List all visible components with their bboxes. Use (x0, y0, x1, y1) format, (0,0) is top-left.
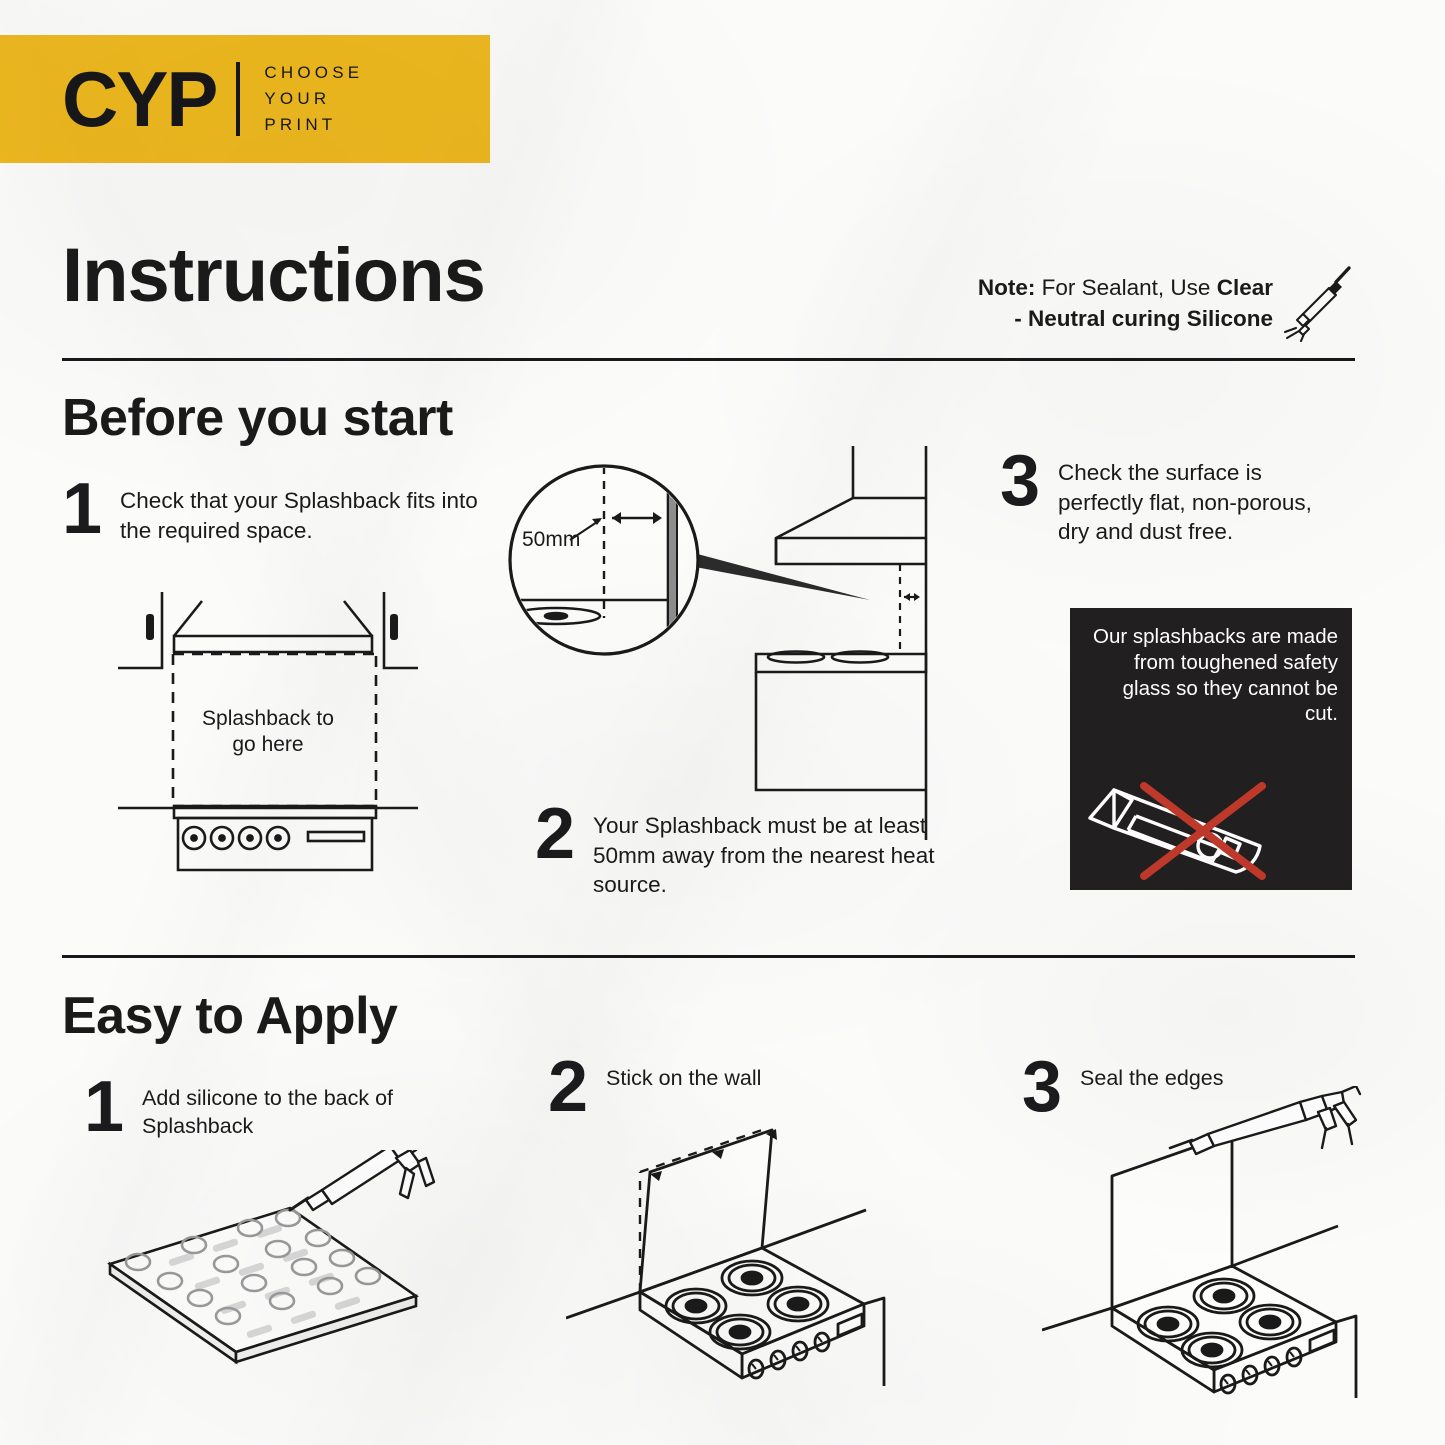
caulk-gun-icon (1170, 1086, 1360, 1154)
step-before-1: 1 Check that your Splashback fits into t… (62, 480, 482, 545)
brand-mark: CYP (62, 60, 216, 138)
step-number: 1 (84, 1078, 124, 1137)
tagline-line-1: CHOOSE (264, 60, 363, 86)
figure-fit-label-line-2: go here (232, 733, 303, 756)
caulk-gun-icon (290, 1150, 438, 1210)
step-number: 1 (62, 480, 102, 539)
step-number: 3 (1000, 452, 1040, 511)
step-before-3: 3 Check the surface is perfectly flat, n… (1000, 452, 1330, 547)
note-label: Note: (978, 275, 1036, 300)
figure-clearance-callout: 50mm (522, 528, 580, 551)
warning-box-cannot-be-cut: Our splashbacks are made from toughened … (1070, 608, 1352, 890)
step-text: Add silicone to the back of Splashback (142, 1078, 414, 1141)
magnifier-connector (690, 552, 870, 600)
section-heading-easy-to-apply: Easy to Apply (62, 990, 397, 1042)
step-easy-1: 1 Add silicone to the back of Splashback (84, 1078, 414, 1141)
logo-divider (236, 62, 240, 136)
note-line-2-text: - Neutral curing Silicone (1014, 306, 1273, 331)
caulk-gun-icon (1279, 262, 1357, 342)
section-heading-before-you-start: Before you start (62, 392, 453, 444)
sealant-note: Note: For Sealant, Use Clear - Neutral c… (978, 272, 1273, 334)
figure-50mm-clearance: 50mm (508, 440, 938, 840)
figure-apply-silicone-to-panel (90, 1150, 470, 1400)
warning-text: Our splashbacks are made from toughened … (1084, 624, 1338, 727)
section-divider-top (62, 358, 1355, 361)
step-text: Check that your Splashback fits into the… (120, 480, 482, 545)
figure-fit-label-line-1: Splashback to (202, 707, 334, 730)
page-title: Instructions (62, 238, 485, 314)
instruction-sheet: CYP CHOOSE YOUR PRINT Instructions Note:… (0, 0, 1445, 1445)
magnifier-detail: 50mm (508, 464, 698, 654)
tagline-line-3: PRINT (264, 112, 363, 138)
note-line-2: - Neutral curing Silicone (978, 303, 1273, 334)
note-line-1: Note: For Sealant, Use Clear (978, 272, 1273, 303)
red-cross (1144, 786, 1262, 876)
crossed-out-utility-knife-icon (1084, 772, 1338, 882)
note-bold-text: Clear (1217, 275, 1273, 300)
note-regular-text: For Sealant, Use (1035, 275, 1216, 300)
step-text: Check the surface is perfectly flat, non… (1058, 452, 1330, 547)
brand-logo-band: CYP CHOOSE YOUR PRINT (0, 35, 490, 163)
figure-splashback-fits-space: Splashback to go here (118, 588, 418, 888)
figure-seal-the-edges (1042, 1086, 1422, 1406)
brand-tagline: CHOOSE YOUR PRINT (264, 60, 363, 137)
section-divider-middle (62, 955, 1355, 958)
figure-stick-panel-on-wall (566, 1086, 926, 1406)
tagline-line-2: YOUR (264, 86, 363, 112)
